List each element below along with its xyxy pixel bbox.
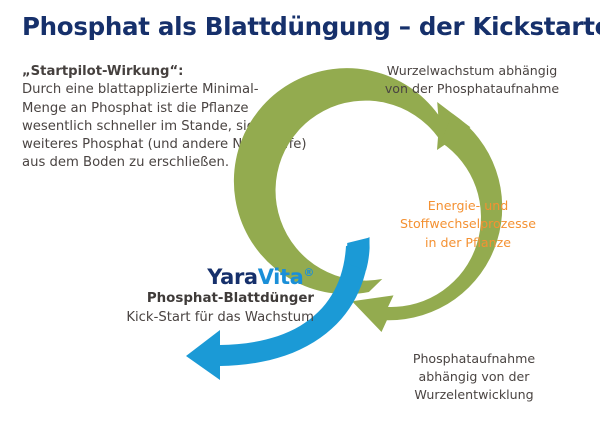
product-brand-block: YaraVita® Phosphat-Blattdünger Kick-Star… (100, 266, 314, 326)
cycle-label-center: Energie- und Stoffwechselprozesse in der… (382, 197, 554, 252)
brand-name-yara: Yara (207, 265, 257, 289)
cycle-label-bottom-line: Phosphataufnahme (362, 350, 586, 368)
cycle-label-top-line: von der Phosphataufnahme (350, 80, 594, 98)
cycle-label-bottom-line: Wurzelentwicklung (362, 386, 586, 404)
cycle-label-center-line: in der Pflanze (382, 234, 554, 252)
brand-tagline: Kick-Start für das Wachstum (100, 309, 314, 326)
cycle-label-bottom: Phosphataufnahme abhängig von der Wurzel… (362, 350, 586, 404)
cycle-label-center-line: Stoffwechselprozesse (382, 215, 554, 233)
cycle-label-bottom-line: abhängig von der (362, 368, 586, 386)
brand-subtitle: Phosphat-Blattdünger (100, 290, 314, 308)
cycle-label-top-line: Wurzelwachstum abhängig (350, 62, 594, 80)
brand-name-vita: Vita (258, 265, 304, 289)
infographic-page: Phosphat als Blattdüngung – der Kickstar… (0, 0, 600, 422)
registered-trademark-icon: ® (303, 266, 314, 279)
cycle-label-top: Wurzelwachstum abhängig von der Phosphat… (350, 62, 594, 98)
brand-name: YaraVita® (100, 266, 314, 288)
cycle-label-center-line: Energie- und (382, 197, 554, 215)
